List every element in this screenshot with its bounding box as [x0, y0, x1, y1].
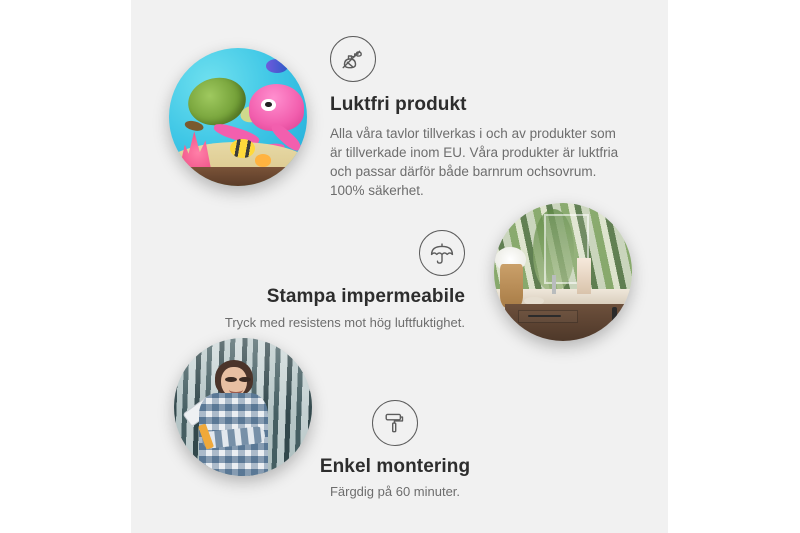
feature-waterproof: Stampa impermeabile Tryck med resistens … [200, 230, 465, 332]
cabinet-handle-shape [612, 307, 617, 333]
no-fragrance-spray-bottle-icon [330, 36, 376, 82]
feature-title: Luktfri produkt [330, 94, 620, 116]
feature-title: Enkel montering [250, 456, 540, 478]
orange-fish-shape [255, 154, 272, 166]
wooden-vanity-shape [505, 304, 632, 341]
feature-body: Färgdig på 60 minuter. [250, 483, 540, 501]
feature-odourless: Luktfri produkt Alla våra tavlor tillver… [330, 36, 620, 201]
underwater-cartoon-mural-photo [169, 48, 307, 186]
octopus-eye-shape [261, 99, 275, 111]
feature-body: Alla våra tavlor tillverkas i och av pro… [330, 124, 620, 201]
bathroom-leaf-wallpaper-photo [494, 203, 632, 341]
sea-floor-rock-shape [169, 167, 307, 186]
feature-title: Stampa impermeabile [200, 286, 465, 308]
vase-shape [500, 264, 523, 308]
toiletry-bottle-shape [577, 258, 591, 294]
feature-body: Tryck med resistens mot hög luftfuktighe… [200, 314, 465, 332]
blue-fish-shape [266, 59, 288, 73]
paint-roller-icon [372, 400, 418, 446]
umbrella-icon [419, 230, 465, 276]
faucet-shape [552, 275, 556, 294]
feature-assembly: Enkel montering Färgdig på 60 minuter. [250, 400, 540, 501]
yellow-fish-shape [230, 139, 255, 158]
infographic-canvas: Luktfri produkt Alla våra tavlor tillver… [0, 0, 800, 533]
drawer-handle-shape [528, 315, 561, 317]
